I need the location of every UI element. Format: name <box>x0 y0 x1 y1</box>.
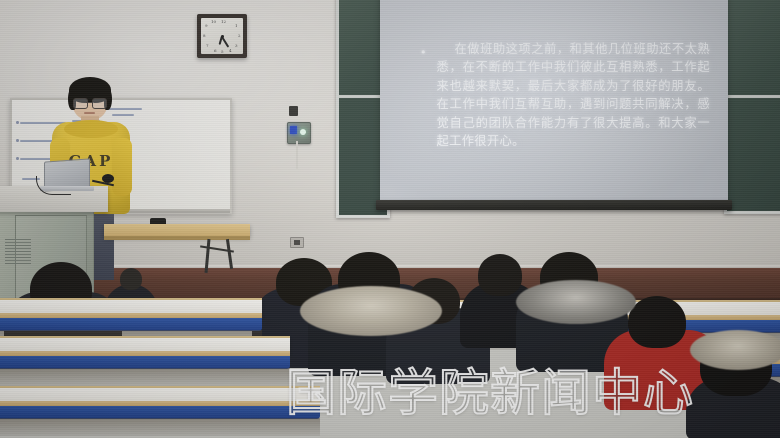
blue-indicator-icon <box>290 126 297 134</box>
bullet-icon: • <box>420 47 427 58</box>
screen-bottom-bar <box>376 200 732 210</box>
student-head <box>120 268 142 290</box>
microphone <box>92 174 118 190</box>
green-indicator-icon <box>300 129 306 135</box>
glasses-icon <box>73 98 107 107</box>
chalkboard-right <box>724 0 780 214</box>
projection-screen-assembly: • 在做班助这项之前，和其他几位班助还不太熟悉，在不断的工作中我们彼此互相熟悉，… <box>380 0 728 212</box>
clock-center-pin <box>221 35 224 38</box>
wall-outlet-icon <box>290 237 304 248</box>
student-head <box>478 254 522 296</box>
classroom-photo: • 在做班助这项之前，和其他几位班助还不太熟悉，在不断的工作中我们彼此互相熟悉，… <box>0 0 780 438</box>
wall-control-panel[interactable] <box>287 122 311 144</box>
fur-hood-trim <box>690 330 780 370</box>
vent-grille-icon <box>5 239 31 265</box>
slide-content: • 在做班助这项之前，和其他几位班助还不太熟悉，在不断的工作中我们彼此互相熟悉，… <box>420 40 710 150</box>
microphone-head-icon <box>102 174 114 183</box>
student-head <box>628 296 686 348</box>
clock-face: 12 1 2 3 4 5 6 7 8 9 10 <box>201 18 243 54</box>
panel-cable <box>296 141 298 169</box>
fur-hood-trim <box>516 280 636 324</box>
wall-sensor-icon <box>289 106 298 116</box>
hoodie-collar <box>64 120 118 138</box>
wall-clock: 12 1 2 3 4 5 6 7 8 9 10 <box>197 14 247 58</box>
fur-hood-trim <box>300 286 442 336</box>
projection-screen: • 在做班助这项之前，和其他几位班助还不太熟悉，在不断的工作中我们彼此互相熟悉，… <box>380 0 728 206</box>
watermark: 国际学院新闻中心 <box>286 368 694 418</box>
slide-paragraph: 在做班助这项之前，和其他几位班助还不太熟悉，在不断的工作中我们彼此互相熟悉，工作… <box>437 40 711 150</box>
